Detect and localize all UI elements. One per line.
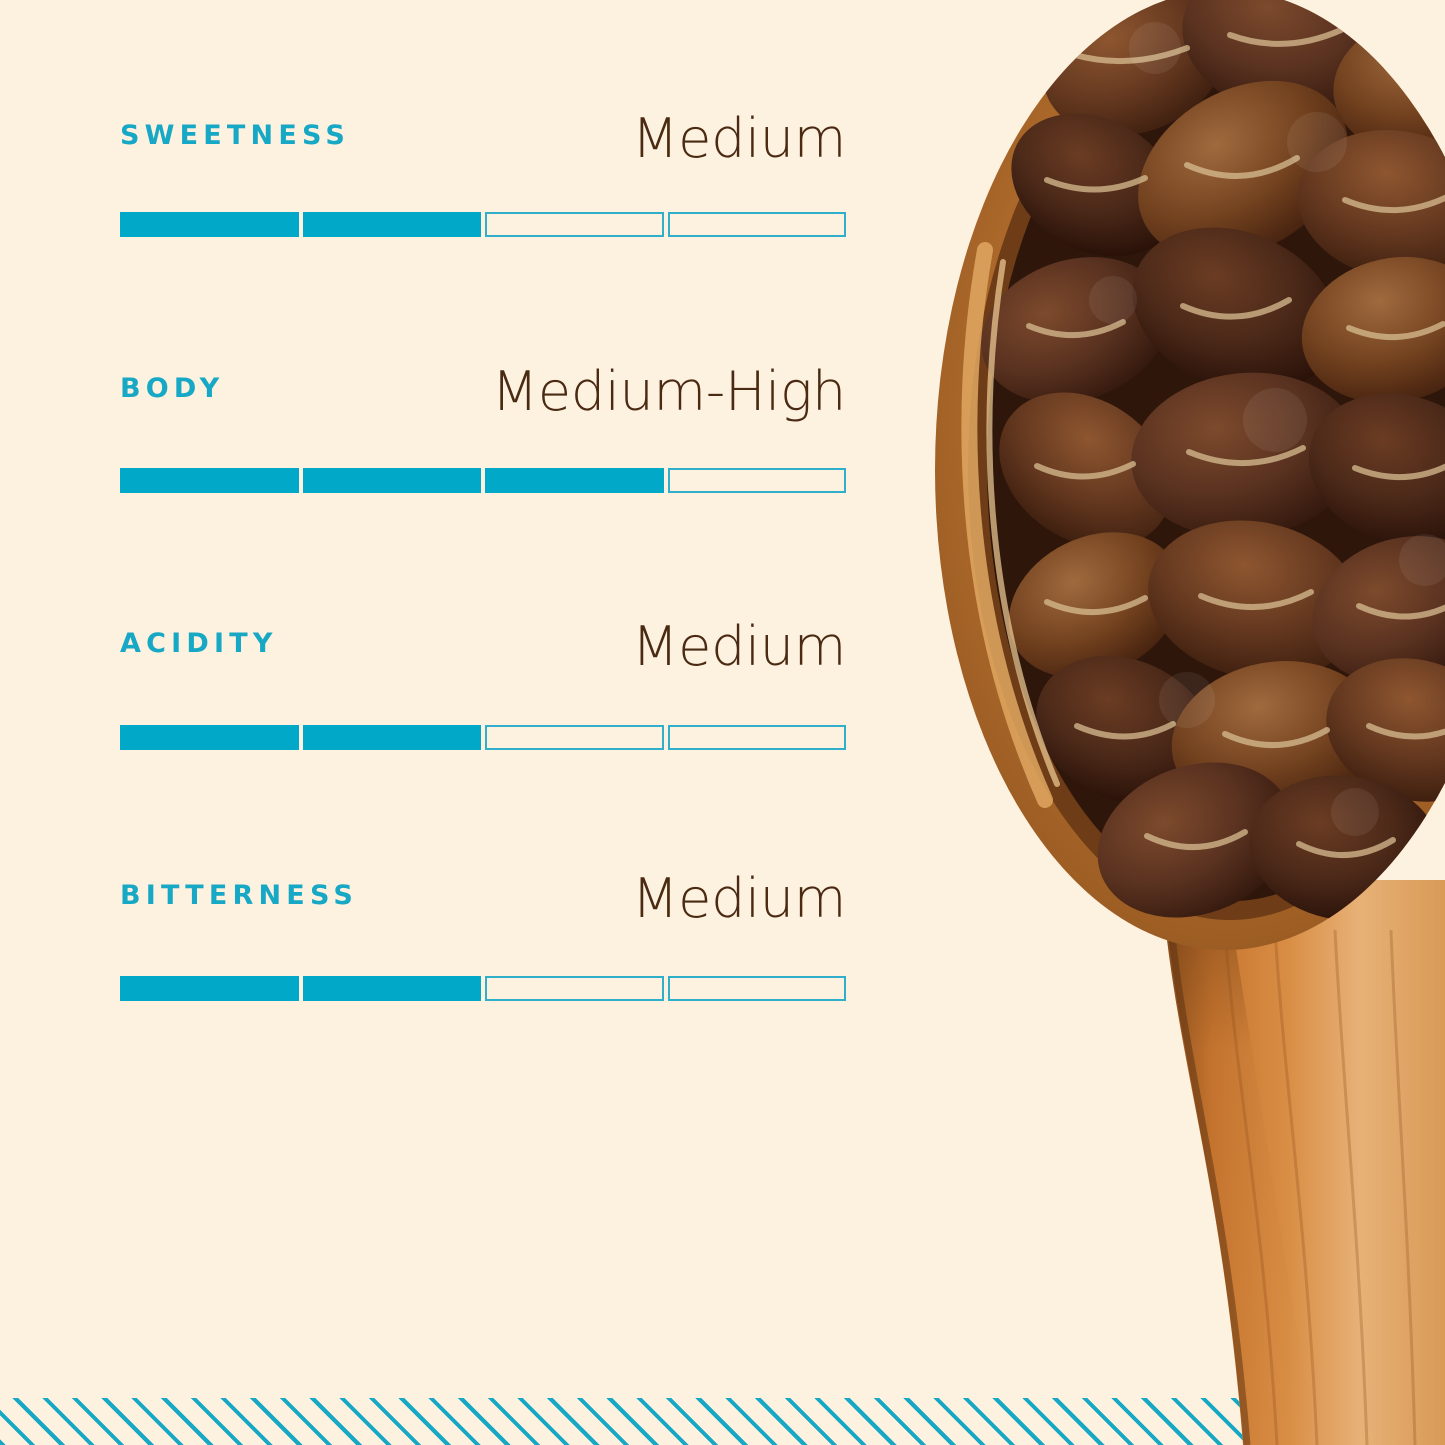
rating-segment [485, 725, 664, 750]
rating-segment [120, 468, 299, 493]
rating-segment [303, 468, 482, 493]
rating-segment [668, 212, 847, 237]
attribute-header: ACIDITY Medium [120, 620, 846, 682]
rating-segment [120, 725, 299, 750]
rating-bar-body [120, 468, 846, 493]
rating-segment [485, 468, 664, 493]
attribute-value-bitterness: Medium [632, 868, 846, 930]
attribute-row-sweetness: SWEETNESS Medium [120, 112, 846, 174]
rating-bar-bitterness [120, 976, 846, 1001]
rating-segment [120, 212, 299, 237]
attribute-label-acidity: ACIDITY [120, 630, 278, 657]
rating-bar-sweetness [120, 212, 846, 237]
rating-segment [303, 976, 482, 1001]
diagonal-stripe-band [0, 1398, 1445, 1445]
rating-segment [668, 468, 847, 493]
attribute-label-sweetness: SWEETNESS [120, 122, 350, 149]
wooden-spoon-with-roasted-coffee-beans [925, 0, 1445, 1445]
attribute-label-body: BODY [120, 375, 224, 402]
attribute-row-body: BODY Medium-High [120, 365, 846, 427]
rating-segment [485, 976, 664, 1001]
attribute-value-acidity: Medium [632, 616, 846, 678]
rating-segment [303, 212, 482, 237]
attribute-row-bitterness: BITTERNESS Medium [120, 872, 846, 934]
attribute-header: SWEETNESS Medium [120, 112, 846, 174]
rating-segment [668, 725, 847, 750]
rating-bar-acidity [120, 725, 846, 750]
attribute-label-bitterness: BITTERNESS [120, 882, 358, 909]
attribute-header: BODY Medium-High [120, 365, 846, 427]
attribute-row-acidity: ACIDITY Medium [120, 620, 846, 682]
rating-segment [120, 976, 299, 1001]
rating-segment [485, 212, 664, 237]
coffee-tasting-profile-card: SWEETNESS Medium BODY Medium-High [0, 0, 1445, 1445]
rating-segment [303, 725, 482, 750]
rating-segment [668, 976, 847, 1001]
attribute-header: BITTERNESS Medium [120, 872, 846, 934]
attribute-value-sweetness: Medium [632, 108, 846, 170]
attribute-value-body: Medium-High [492, 361, 846, 423]
